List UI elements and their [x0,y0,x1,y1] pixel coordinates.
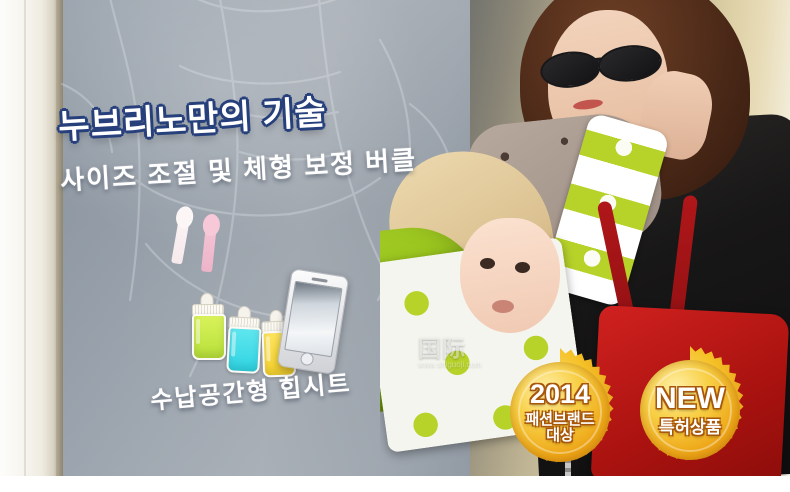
bottle-body [226,326,261,374]
badge-line-1: 2014 [530,380,590,409]
phone-screen [284,281,342,358]
phone-speaker [311,277,327,282]
bottle-body [192,314,226,360]
badge-line-3: 대상 [546,428,574,444]
badge-new-patent: NEW 특허상품 [626,346,754,474]
baby-face [460,218,560,333]
badge-line-2: 패션브랜드 [525,412,594,428]
promo-banner: 国际 www.shiguoji.com 누브리노만의 기술 사이즈 조절 및 체… [0,0,790,492]
badge-text: NEW 특허상품 [626,346,754,474]
pillar-seam [24,0,26,476]
baby-bottle-cyan-icon [226,305,258,370]
baby-mouth [492,300,514,313]
baby-eye-left [480,258,495,269]
badge-line-2: 특허상품 [659,419,722,437]
badge-text: 2014 패션브랜드 대상 [496,348,624,476]
baby-bottle-green-icon [192,293,222,359]
photo-backdrop: 国际 www.shiguoji.com 누브리노만의 기술 사이즈 조절 및 체… [0,0,790,476]
bottom-white-strip [0,476,790,492]
badge-award-2014: 2014 패션브랜드 대상 [496,348,624,476]
badge-line-1: NEW [655,383,725,415]
baby-eye-right [515,262,530,273]
